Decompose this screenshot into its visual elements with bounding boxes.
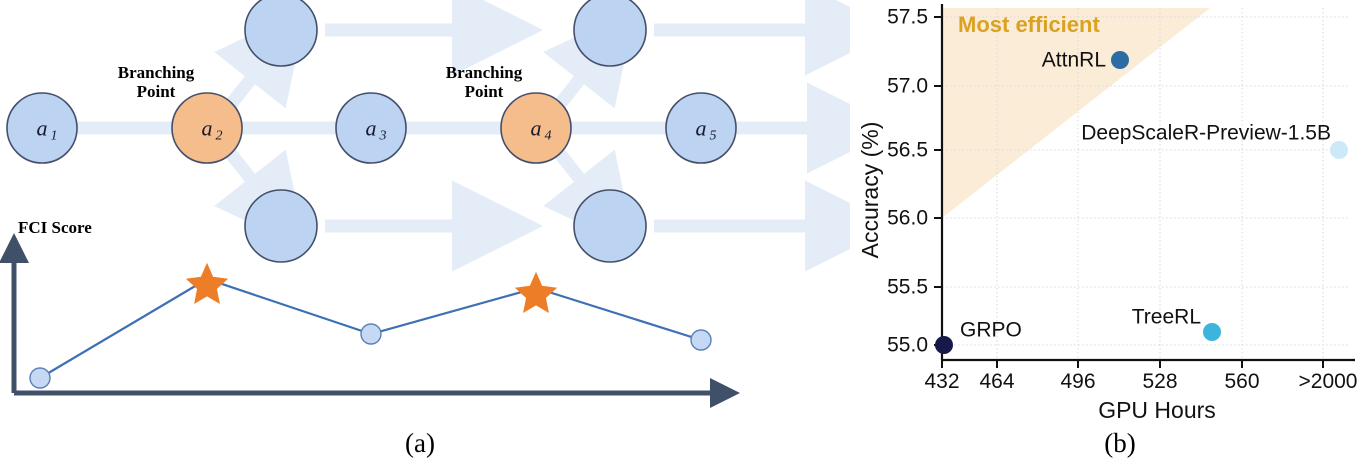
datapoint-label-attnrl: AttnRL xyxy=(1042,49,1106,72)
fci-star-2 xyxy=(516,273,556,312)
x-ticklabel-5: >2000 xyxy=(1299,370,1358,393)
x-ticklabel-4: 560 xyxy=(1224,370,1259,393)
y-axis-title: Accuracy (%) xyxy=(857,122,883,259)
fci-point-1 xyxy=(30,368,50,388)
node-label-a1: a xyxy=(37,116,48,141)
x-ticklabel-2: 496 xyxy=(1060,370,1095,393)
node-sub-a4: 4 xyxy=(545,129,552,144)
x-ticklabel-0: 432 xyxy=(924,370,959,393)
y-ticklabel-1: 55.5 xyxy=(887,276,928,299)
branching-point-caption-1: Branching Point xyxy=(118,63,195,101)
node-sub-a5: 5 xyxy=(710,129,717,144)
chain-node-a2: a 2 xyxy=(172,93,242,163)
node-label-a2: a xyxy=(202,116,213,141)
most-efficient-region xyxy=(942,8,1210,218)
panel-a-branching-diagram: a 1 a 2 a 3 a 4 a 5 xyxy=(0,0,850,470)
branch-node-upper-1 xyxy=(245,0,317,66)
node-sub-a2: 2 xyxy=(216,129,223,144)
datapoint-label-deepscaler: DeepScaleR-Preview-1.5B xyxy=(1081,122,1331,145)
x-ticklabel-3: 528 xyxy=(1142,370,1177,393)
branch-node-lower-2 xyxy=(574,190,646,262)
datapoint-marker-deepscaler[interactable] xyxy=(1330,141,1348,159)
node-label-a4: a xyxy=(531,116,542,141)
panel-a-svg: a 1 a 2 a 3 a 4 a 5 xyxy=(0,0,850,470)
branching-point-caption-1-line2: Point xyxy=(137,82,176,101)
branch-arrow-a2-down xyxy=(228,150,258,188)
y-ticklabel-2: 56.0 xyxy=(887,207,928,230)
branching-point-caption-1-line1: Branching xyxy=(118,63,195,82)
fci-point-5 xyxy=(691,330,711,350)
y-ticklabel-4: 57.0 xyxy=(887,75,928,98)
panel-b-scatter-chart: 57.5 57.0 56.5 56.0 55.5 55.0 432 464 49… xyxy=(850,0,1364,470)
chain-node-a3: a 3 xyxy=(336,93,406,163)
node-sub-a1: 1 xyxy=(51,129,58,144)
branch-arrow-a4-up xyxy=(557,70,587,108)
node-label-a3: a xyxy=(366,116,377,141)
datapoint-label-treerl: TreeRL xyxy=(1132,306,1201,329)
figure-container: a 1 a 2 a 3 a 4 a 5 xyxy=(0,0,1364,470)
node-sub-a3: 3 xyxy=(379,129,387,144)
datapoint-deepscaler[interactable]: DeepScaleR-Preview-1.5B xyxy=(1081,122,1348,160)
datapoint-marker-grpo[interactable] xyxy=(935,336,953,354)
branch-arrow-a2-up xyxy=(228,70,258,108)
fci-star-1 xyxy=(187,264,227,303)
y-ticklabel-0: 55.0 xyxy=(887,334,928,357)
branching-point-caption-2-line2: Point xyxy=(465,82,504,101)
subcaption-b: (b) xyxy=(1060,428,1180,459)
x-axis-title: GPU Hours xyxy=(1098,397,1216,423)
datapoint-grpo[interactable]: GRPO xyxy=(935,319,1022,355)
most-efficient-annotation: Most efficient xyxy=(958,12,1100,37)
node-label-a5: a xyxy=(696,116,707,141)
datapoint-label-grpo: GRPO xyxy=(960,319,1022,342)
x-axis-ticks xyxy=(942,360,1323,368)
branch-arrow-a4-down xyxy=(557,150,587,188)
chain-node-a4: a 4 xyxy=(501,93,571,163)
branching-point-caption-2-line1: Branching xyxy=(446,63,523,82)
y-ticklabel-5: 57.5 xyxy=(887,6,928,29)
panel-b-svg: 57.5 57.0 56.5 56.0 55.5 55.0 432 464 49… xyxy=(850,0,1364,470)
branch-node-lower-1 xyxy=(245,190,317,262)
branching-point-caption-2: Branching Point xyxy=(446,63,523,101)
fci-point-3 xyxy=(361,324,381,344)
chain-node-a5: a 5 xyxy=(666,93,736,163)
datapoint-treerl[interactable]: TreeRL xyxy=(1132,306,1221,342)
fci-score-axis-label: FCI Score xyxy=(18,218,92,237)
datapoint-marker-treerl[interactable] xyxy=(1203,323,1221,341)
datapoint-marker-attnrl[interactable] xyxy=(1111,51,1129,69)
y-ticklabel-3: 56.5 xyxy=(887,139,928,162)
y-axis-ticks xyxy=(934,17,942,345)
chain-node-a1: a 1 xyxy=(7,93,77,163)
subcaption-a: (a) xyxy=(360,428,480,459)
branch-node-upper-2 xyxy=(574,0,646,66)
x-ticklabel-1: 464 xyxy=(979,370,1014,393)
